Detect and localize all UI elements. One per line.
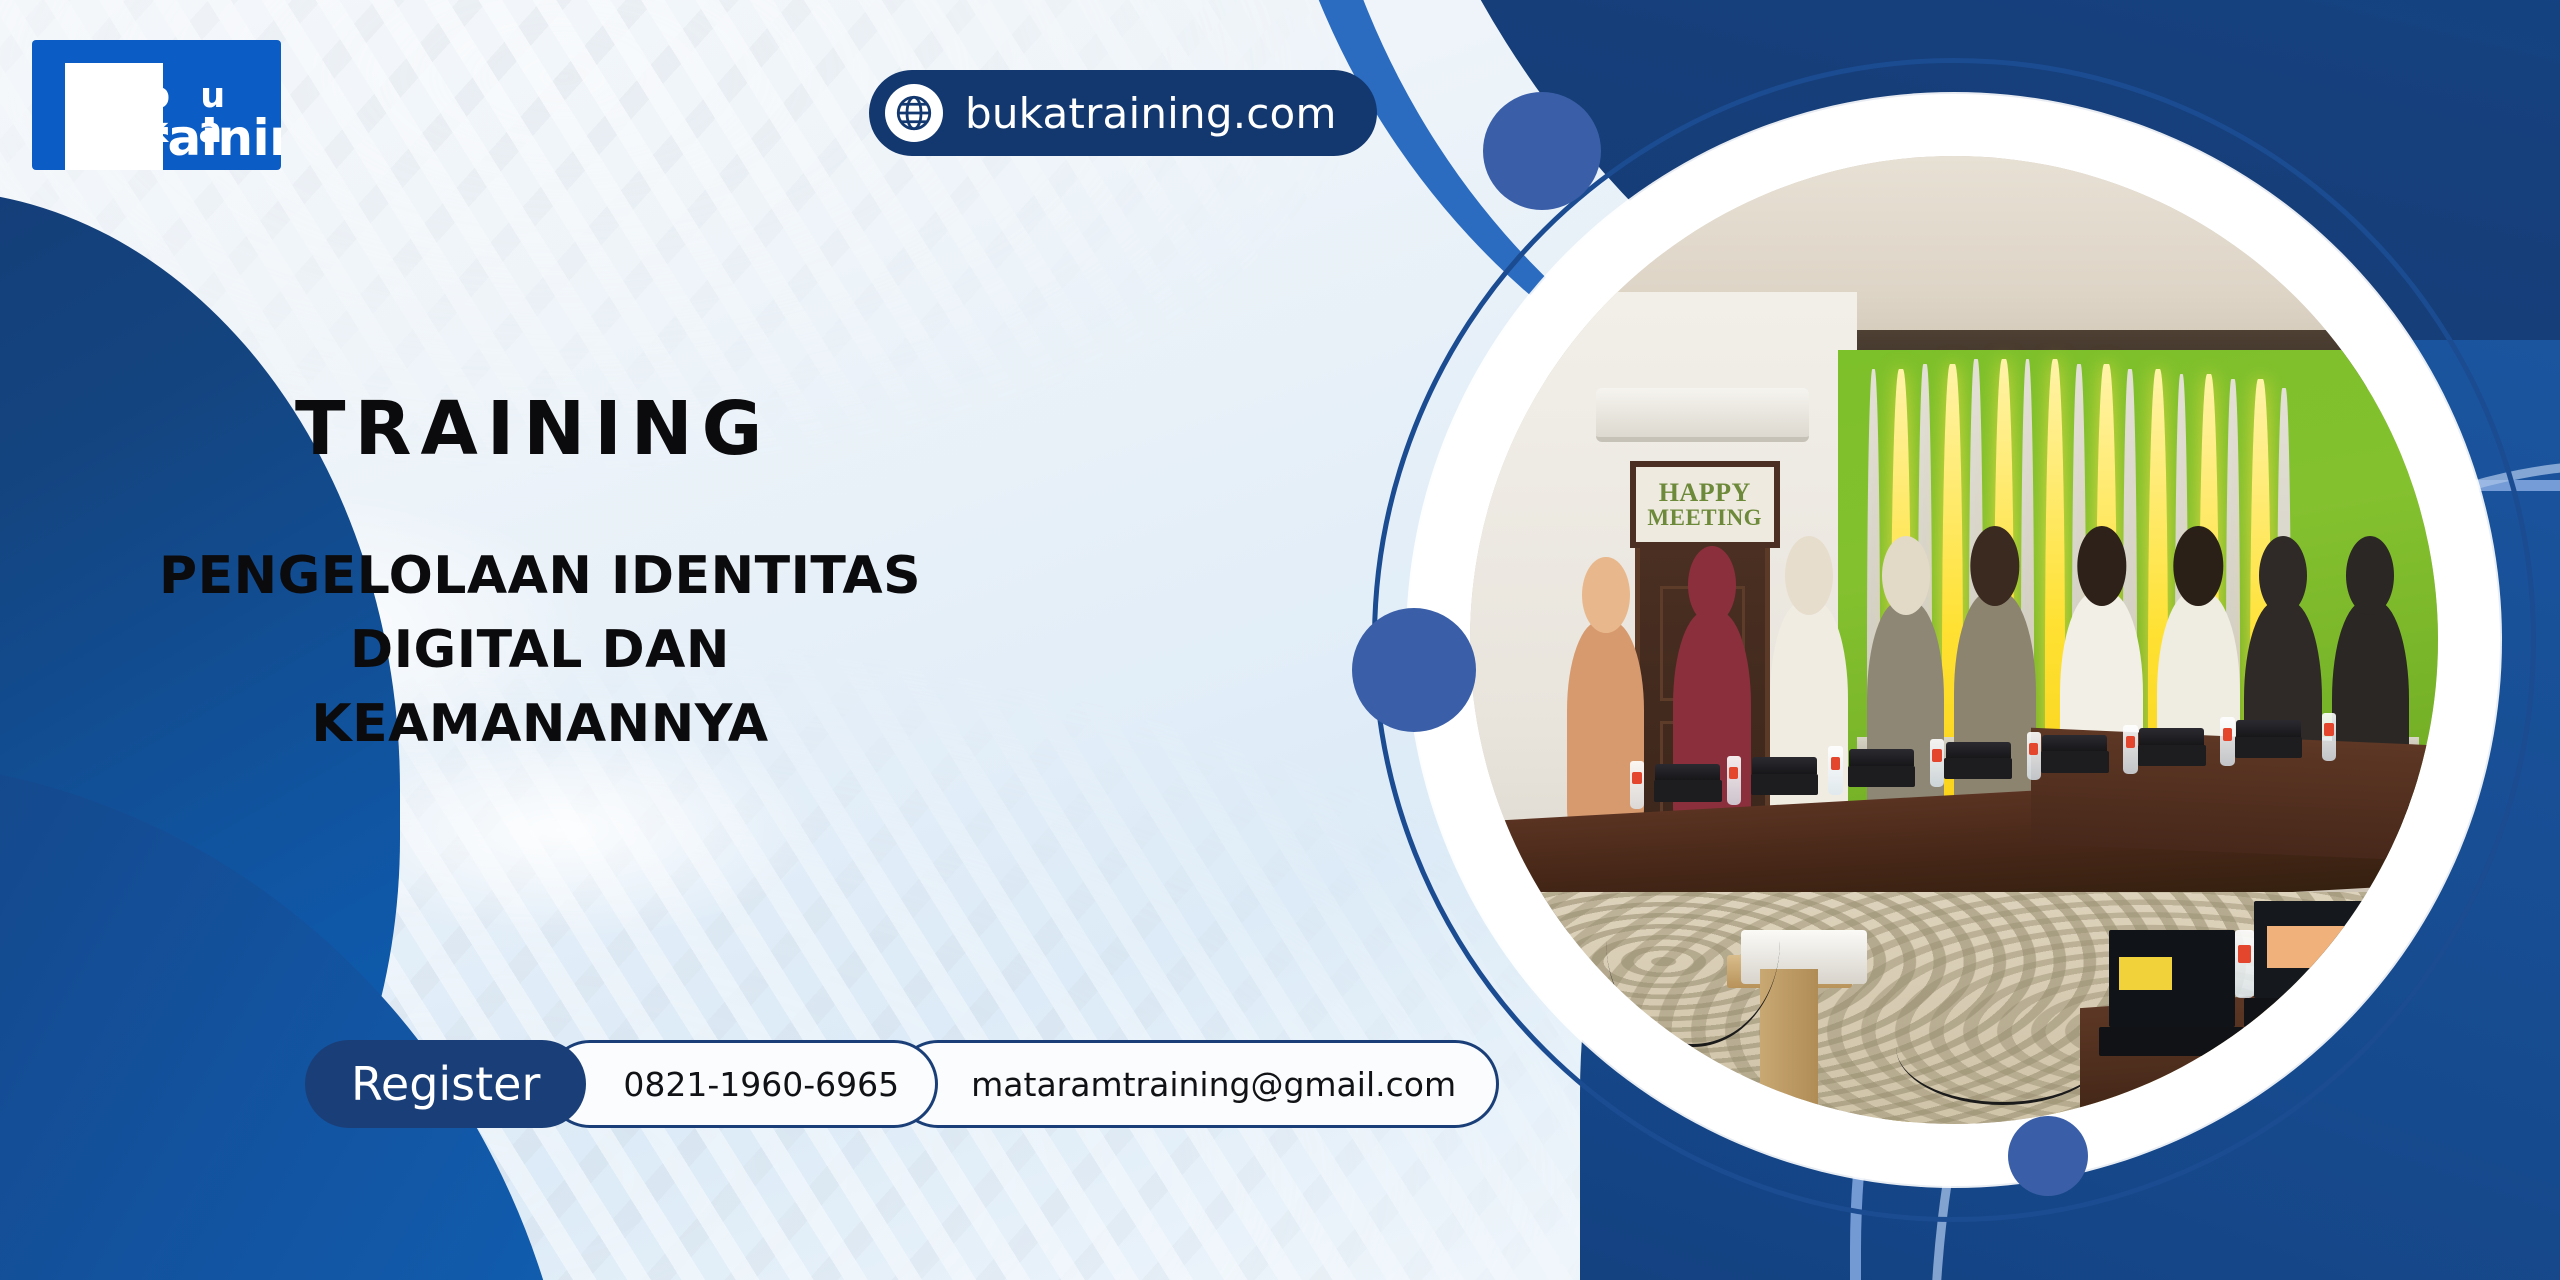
photo-participant-head xyxy=(2346,536,2394,615)
register-button-label: Register xyxy=(351,1057,540,1111)
photo-screen-highlight xyxy=(2119,957,2172,990)
register-bar: mataramtraining@gmail.com 0821-1960-6965… xyxy=(305,1040,1499,1128)
training-room-photo: HAPPY MEETING xyxy=(1470,156,2438,1124)
photo-laptop xyxy=(2138,745,2206,766)
photo-water-bottle xyxy=(1630,761,1645,809)
photo-water-bottle xyxy=(1828,746,1843,794)
logo-word-training: training xyxy=(120,113,281,163)
photo-podium-stand xyxy=(1760,969,1818,1124)
register-button[interactable]: Register xyxy=(305,1040,586,1128)
photo-air-conditioner xyxy=(1596,388,1809,441)
sign-line-1: HAPPY xyxy=(1659,479,1751,506)
eyebrow-heading: TRAINING xyxy=(295,392,771,466)
contact-email-pill[interactable]: mataramtraining@gmail.com xyxy=(894,1040,1499,1128)
photo-cable xyxy=(1896,988,2109,1104)
photo-water-bottle xyxy=(2322,713,2337,761)
photo-foreground-laptop-screen xyxy=(2109,930,2235,1027)
photo-participant xyxy=(1770,601,1847,833)
title-line-3: KEAMANANNYA xyxy=(130,688,950,762)
photo-happy-meeting-sign: HAPPY MEETING xyxy=(1630,461,1780,548)
photo-laptop xyxy=(1751,774,1819,795)
photo-foreground-laptop-base xyxy=(2244,998,2389,1027)
photo-laptop xyxy=(1944,758,2012,779)
contact-phone-text: 0821-1960-6965 xyxy=(623,1065,899,1104)
photo-participant-head xyxy=(1785,536,1833,615)
photo-scene: HAPPY MEETING xyxy=(1470,156,2438,1124)
decor-circle-middle xyxy=(1352,608,1476,732)
photo-participant-head xyxy=(1970,526,2019,606)
sign-line-2: MEETING xyxy=(1647,506,1762,530)
photo-water-bottle xyxy=(2220,717,2235,765)
photo-laptop-lid xyxy=(1655,764,1720,781)
photo-laptop-lid xyxy=(1849,749,1914,766)
website-pill[interactable]: bukatraining.com xyxy=(869,70,1377,156)
title-line-1: PENGELOLAAN IDENTITAS xyxy=(130,540,950,614)
photo-participant-head xyxy=(2077,526,2126,606)
photo-laptop xyxy=(1848,766,1916,787)
photo-foreground-laptop-screen xyxy=(2254,901,2380,998)
photo-participant-head xyxy=(2174,526,2223,606)
photo-laptop-lid xyxy=(2139,728,2204,745)
photo-foreground-laptop-base xyxy=(2099,1027,2244,1056)
buka-training-logo[interactable]: b u k a training xyxy=(32,40,281,170)
photo-water-bottle xyxy=(2123,725,2138,773)
photo-laptop-lid xyxy=(1752,757,1817,774)
contact-email-text: mataramtraining@gmail.com xyxy=(971,1065,1456,1104)
photo-laptop-lid xyxy=(1946,742,2011,759)
photo-participant-head xyxy=(1582,557,1630,634)
photo-laptop-lid xyxy=(2236,720,2301,737)
photo-water-bottle xyxy=(2235,930,2254,998)
photo-participant-head xyxy=(2259,536,2307,615)
photo-laptop xyxy=(2041,751,2109,772)
contact-phone-pill[interactable]: 0821-1960-6965 xyxy=(546,1040,938,1128)
website-url-text: bukatraining.com xyxy=(965,89,1337,138)
promo-banner: HAPPY MEETING xyxy=(0,0,2560,1280)
photo-participant-head xyxy=(1882,536,1930,615)
photo-participant-head xyxy=(1688,546,1736,624)
photo-laptop-lid xyxy=(2042,735,2107,752)
title-line-2: DIGITAL DAN xyxy=(130,614,950,688)
decor-circle-bottom xyxy=(2008,1116,2088,1196)
photo-cable xyxy=(1606,834,1780,1047)
globe-icon xyxy=(885,84,943,142)
photo-water-bottle xyxy=(2027,732,2042,780)
photo-water-bottle xyxy=(1727,756,1742,804)
open-door-icon-panel xyxy=(65,63,127,170)
photo-screen-highlight xyxy=(2267,926,2355,969)
page-title: PENGELOLAAN IDENTITAS DIGITAL DAN KEAMAN… xyxy=(130,540,950,761)
photo-laptop xyxy=(1654,780,1722,801)
decor-circle-top xyxy=(1483,92,1601,210)
photo-laptop xyxy=(2235,737,2303,758)
photo-water-bottle xyxy=(1930,739,1945,787)
